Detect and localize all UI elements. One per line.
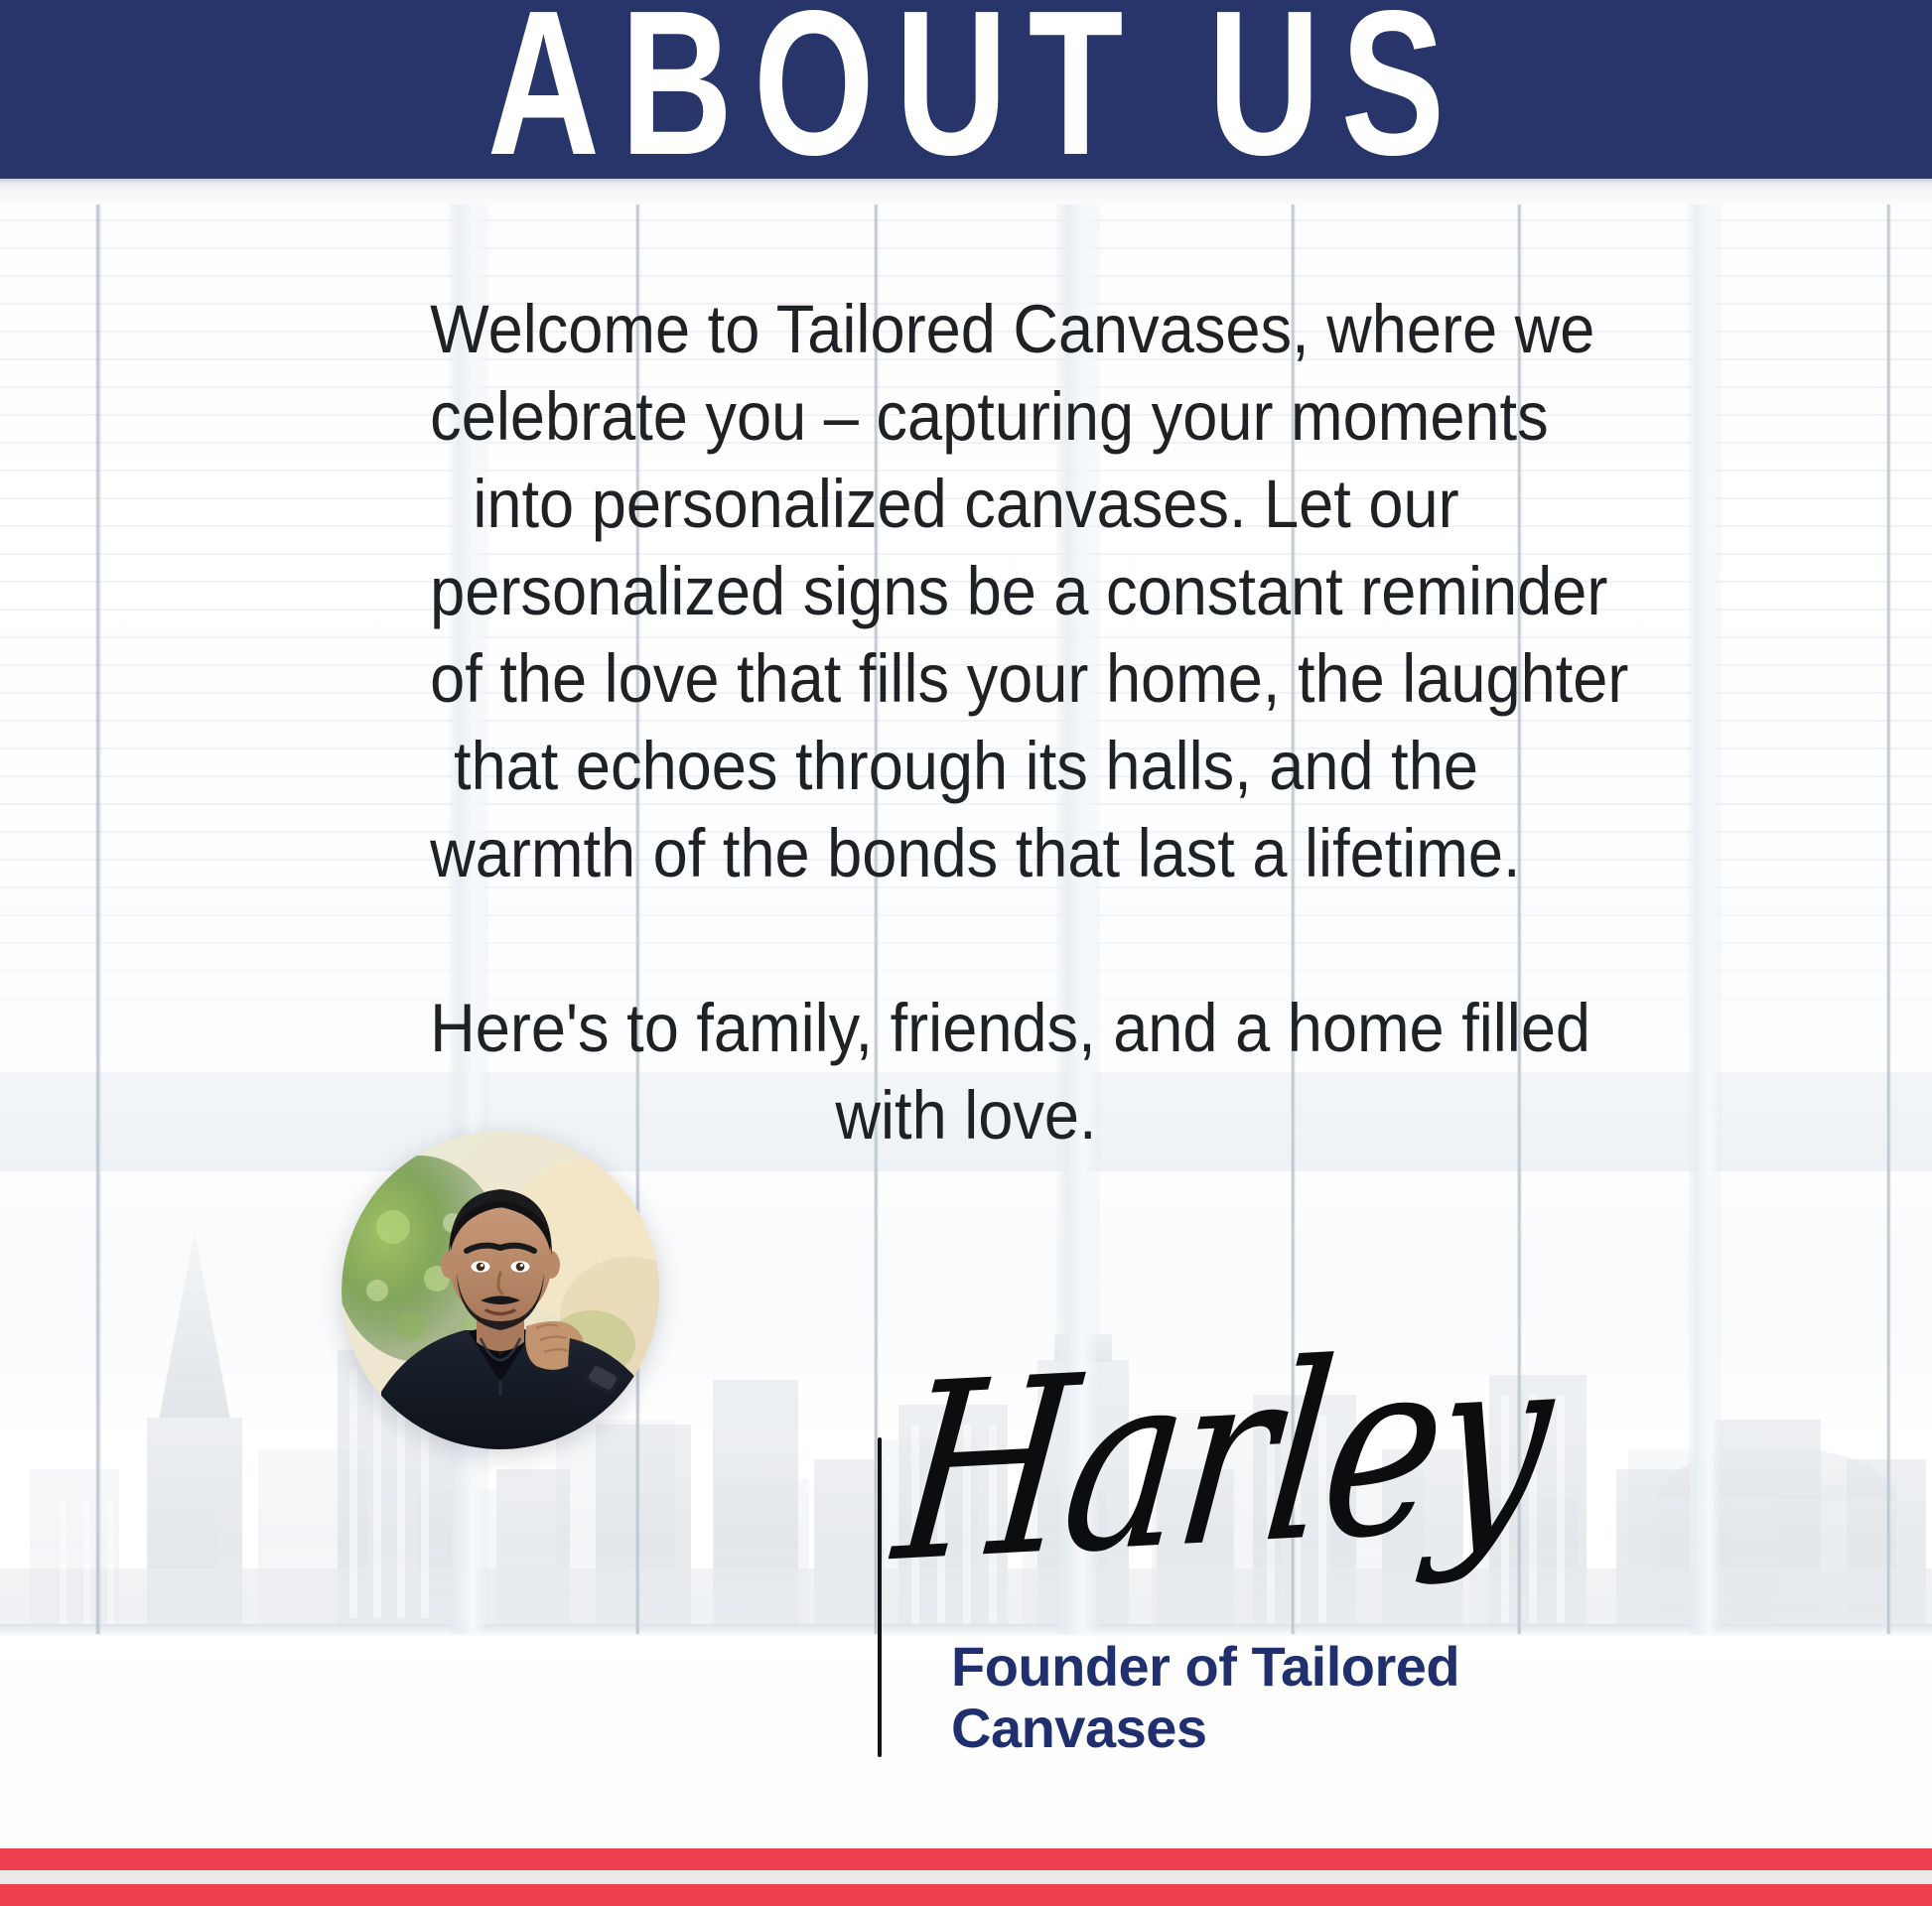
footer-bar-top [0, 1848, 1932, 1870]
copy-line: personalized signs be a constant reminde… [430, 548, 1502, 635]
paragraph-1: Welcome to Tailored Canvases, where we c… [380, 286, 1552, 897]
footer-bar-bottom [0, 1884, 1932, 1906]
about-us-page: ABOUT US Welcome to Tailored Canvases, w… [0, 0, 1932, 1906]
copy-line: of the love that fills your home, the la… [430, 635, 1502, 723]
signature-role-line-2: Canvases [951, 1698, 1626, 1759]
copy-line: celebrate you – capturing your moments [430, 373, 1502, 461]
signature-role-line-1: Founder of Tailored [951, 1636, 1626, 1698]
copy-line: Here's to family, friends, and a home fi… [430, 985, 1502, 1072]
footer-bar-gap [0, 1870, 1932, 1884]
copy-line: Welcome to Tailored Canvases, where we [430, 286, 1502, 373]
copy-line: that echoes through its halls, and the [430, 723, 1502, 810]
header-divider [0, 179, 1932, 184]
signature-divider [878, 1437, 882, 1757]
copy-line: warmth of the bonds that last a lifetime… [430, 810, 1502, 897]
paragraph-2: Here's to family, friends, and a home fi… [380, 985, 1552, 1159]
copy-line: into personalized canvases. Let our [430, 461, 1502, 548]
paragraph-spacer [380, 897, 1552, 985]
signature-role: Founder of Tailored Canvases [951, 1636, 1626, 1759]
page-title: ABOUT US [194, 0, 1739, 179]
about-us-header-banner: ABOUT US [0, 0, 1932, 179]
copy-line: with love. [430, 1072, 1502, 1159]
avatar [342, 1132, 659, 1449]
about-us-body-copy: Welcome to Tailored Canvases, where we c… [380, 286, 1552, 1159]
city-skyline [0, 1171, 1932, 1638]
